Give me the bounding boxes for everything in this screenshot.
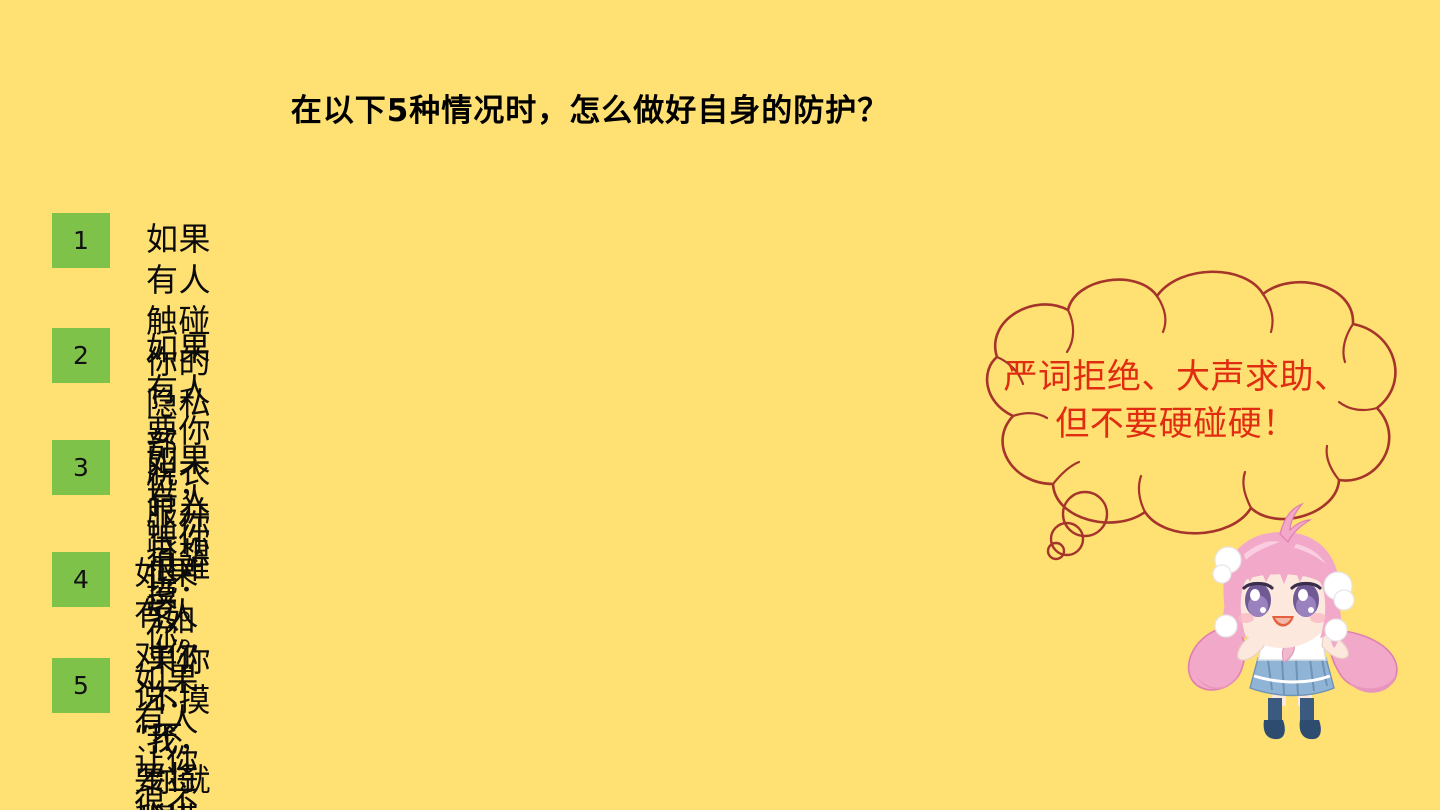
list-item-number-badge: 1 (52, 213, 110, 268)
list-item-number-badge: 3 (52, 440, 110, 495)
chibi-girl-illustration (1180, 498, 1440, 766)
list-item-number-badge: 4 (52, 552, 110, 607)
chibi-girl-icon (1180, 498, 1440, 766)
slide-canvas: 在以下5种情况时，怎么做好自身的防护？ 1 如果有人触碰你的隐私部位，让你很难受… (0, 0, 1440, 810)
list-item-text: 如果有人让你很不舒服或者你觉得某些方面不对劲。 (134, 659, 199, 810)
list-item-number-badge: 2 (52, 328, 110, 383)
list-item-number-badge: 5 (52, 658, 110, 713)
thought-bubble-text: 严词拒绝、大声求助、 但不要硬碰硬！ (953, 354, 1399, 448)
